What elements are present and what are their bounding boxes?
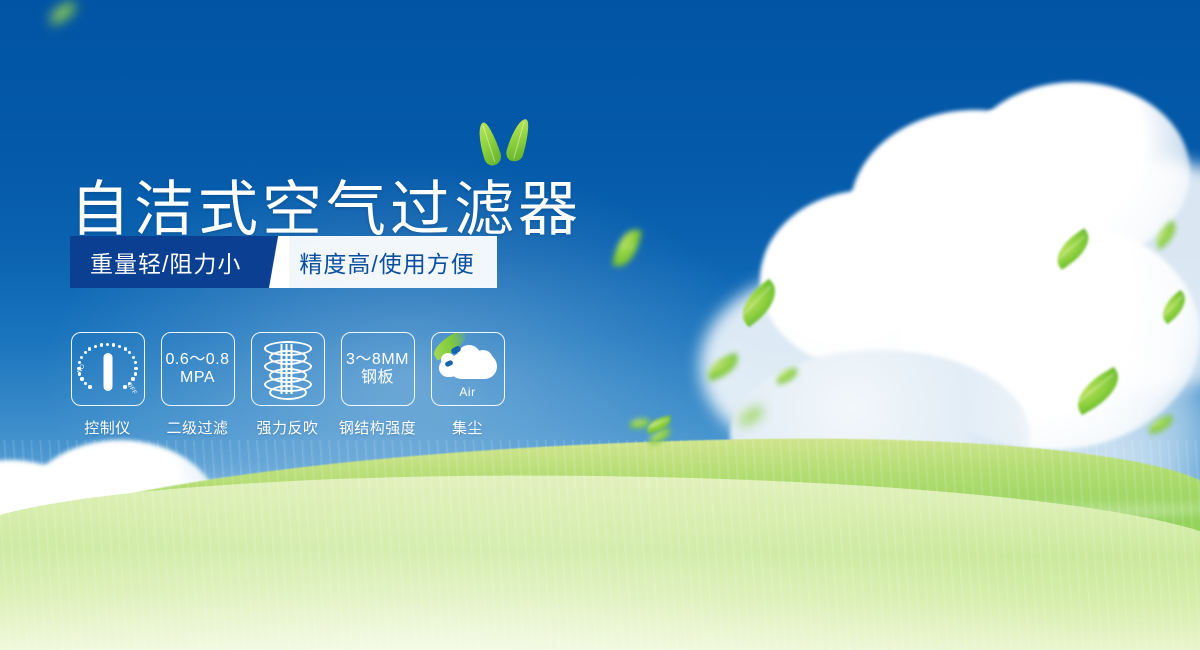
feature-icon-box: Air (431, 332, 505, 406)
feature-icon-box: 0.6～0.8 MPA (161, 332, 235, 406)
feature-label: 钢结构强度 (339, 417, 417, 438)
feature-item-controller[interactable]: NO OFF 控制仪 (70, 332, 145, 438)
air-cloud-icon: Air (437, 341, 499, 397)
feature-item-backblow[interactable]: 强力反吹 (250, 332, 325, 438)
feature-item-steel[interactable]: 3～8MM 钢板 钢结构强度 (340, 332, 415, 438)
steel-plate-text-icon: 3～8MM 钢板 (346, 351, 409, 387)
feature-list: NO OFF 控制仪 0.6～0.8 MPA 二级过滤 (70, 332, 520, 438)
feature-item-pressure[interactable]: 0.6～0.8 MPA 二级过滤 (160, 332, 235, 438)
product-banner: 自洁式空气过滤器 重量轻/阻力小 精度高/使用方便 (0, 0, 1200, 650)
feature-icon-box (251, 332, 325, 406)
gauge-icon: NO OFF (76, 337, 140, 401)
pressure-text-icon: 0.6～0.8 MPA (166, 351, 230, 387)
subtitle-right: 精度高/使用方便 (289, 236, 496, 288)
feature-icon-box: NO OFF (71, 332, 145, 406)
feature-item-dust[interactable]: Air 集尘 (430, 332, 505, 438)
air-label: Air (437, 385, 499, 399)
coil-filter-icon (262, 340, 314, 398)
gauge-off-label: OFF (125, 382, 137, 396)
feature-label: 集尘 (452, 417, 483, 438)
page-title: 自洁式空气过滤器 (70, 180, 582, 240)
subtitle-separator-slash (263, 236, 289, 288)
feature-icon-box: 3～8MM 钢板 (341, 332, 415, 406)
feature-label: 强力反吹 (256, 417, 318, 438)
subtitle-left: 重量轻/阻力小 (70, 236, 263, 288)
feature-label: 二级过滤 (166, 417, 228, 438)
gauge-needle (103, 353, 112, 391)
subtitle-bar: 重量轻/阻力小 精度高/使用方便 (70, 236, 497, 288)
feature-label: 控制仪 (84, 417, 131, 438)
